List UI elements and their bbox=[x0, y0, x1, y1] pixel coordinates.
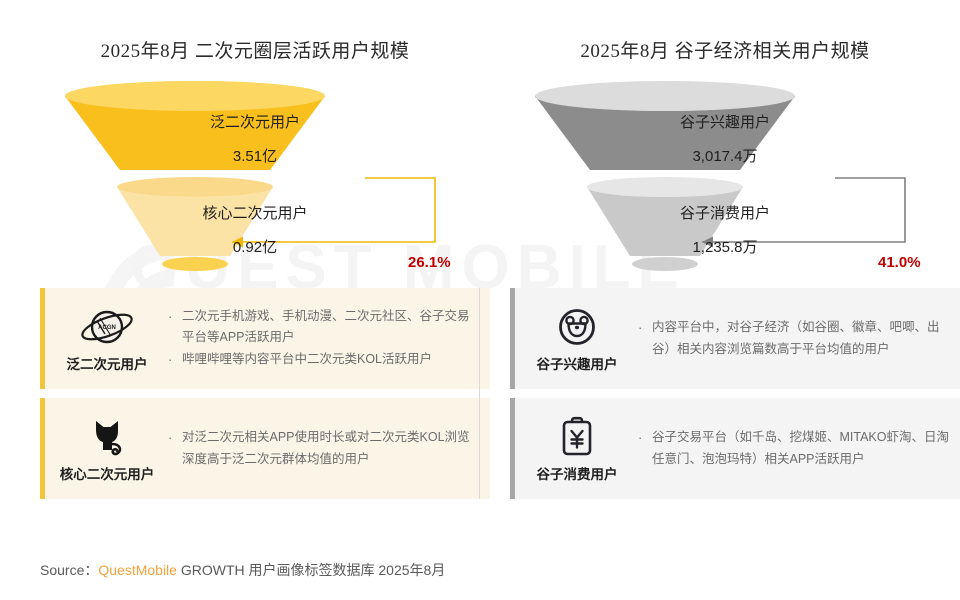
card-pan-acgn-user: ACGN 泛二次元用户 · 二次元手机游戏、手机动漫、二次元社区、谷子交易平台等… bbox=[40, 288, 490, 389]
left-funnel-level1-label: 泛二次元用户 bbox=[20, 111, 490, 132]
bullet-dot-icon: · bbox=[168, 427, 182, 449]
bullet-item: · 对泛二次元相关APP使用时长或对二次元类KOL浏览深度高于泛二次元群体均值的… bbox=[168, 427, 480, 470]
card-label: 谷子兴趣用户 bbox=[537, 353, 618, 373]
left-chart-title: 2025年8月 二次元圈层活跃用户规模 bbox=[20, 36, 490, 63]
planet-acgn-icon: ACGN bbox=[78, 304, 136, 350]
card-label: 泛二次元用户 bbox=[67, 353, 148, 373]
card-icon-column: ACGN 泛二次元用户 bbox=[46, 304, 168, 373]
right-chart-title: 2025年8月 谷子经济相关用户规模 bbox=[490, 36, 960, 63]
right-funnel-level2-label: 谷子消费用户 bbox=[490, 202, 960, 223]
left-funnel-level2-label: 核心二次元用户 bbox=[20, 202, 490, 223]
bullet-text: 二次元手机游戏、手机动漫、二次元社区、谷子交易平台等APP活跃用户 bbox=[182, 306, 480, 349]
card-bullet-list: · 内容平台中，对谷子经济（如谷圈、徽章、吧唧、出谷）相关内容浏览篇数高于平台均… bbox=[638, 317, 960, 360]
card-core-acgn-user: 核心二次元用户 · 对泛二次元相关APP使用时长或对二次元类KOL浏览深度高于泛… bbox=[40, 398, 490, 499]
card-bullet-list: · 二次元手机游戏、手机动漫、二次元社区、谷子交易平台等APP活跃用户 · 哔哩… bbox=[168, 306, 490, 371]
left-funnel-chart: 泛二次元用户 3.51亿 核心二次元用户 0.92亿 26.1% bbox=[20, 80, 490, 275]
bullet-dot-icon: · bbox=[638, 427, 652, 449]
column-divider bbox=[479, 288, 480, 499]
bullet-text: 内容平台中，对谷子经济（如谷圈、徽章、吧唧、出谷）相关内容浏览篇数高于平台均值的… bbox=[652, 317, 950, 360]
right-column: 2025年8月 谷子经济相关用户规模 谷子兴趣用户 3,017.4万 谷子消费用… bbox=[490, 0, 960, 600]
right-funnel-chart: 谷子兴趣用户 3,017.4万 谷子消费用户 1,235.8万 41.0% bbox=[490, 80, 960, 275]
card-icon-column: 谷子兴趣用户 bbox=[516, 304, 638, 373]
source-footer: Source：QuestMobile GROWTH 用户画像标签数据库 2025… bbox=[40, 560, 445, 580]
bullet-item: · 二次元手机游戏、手机动漫、二次元社区、谷子交易平台等APP活跃用户 bbox=[168, 306, 480, 349]
card-label: 谷子消费用户 bbox=[537, 463, 618, 483]
bear-face-icon bbox=[555, 304, 599, 350]
slide-root: QUEST MOBILE 2025年8月 二次元圈层活跃用户规模 bbox=[0, 0, 960, 600]
source-prefix: Source： bbox=[40, 562, 98, 578]
bullet-item: · 谷子交易平台（如千岛、挖煤姬、MITAKO虾淘、日淘任意门、泡泡玛特）相关A… bbox=[638, 427, 950, 470]
left-conversion-rate: 26.1% bbox=[408, 254, 451, 271]
card-icon-column: 核心二次元用户 bbox=[46, 414, 168, 483]
card-bullet-list: · 谷子交易平台（如千岛、挖煤姬、MITAKO虾淘、日淘任意门、泡泡玛特）相关A… bbox=[638, 427, 960, 470]
source-brand: QuestMobile bbox=[98, 562, 177, 578]
left-column: 2025年8月 二次元圈层活跃用户规模 泛二次元用户 3.51亿 核心二 bbox=[20, 0, 490, 600]
bullet-dot-icon: · bbox=[638, 317, 652, 339]
bullet-dot-icon: · bbox=[168, 349, 182, 371]
card-label: 核心二次元用户 bbox=[60, 463, 155, 483]
card-guzi-consumer-user: 谷子消费用户 · 谷子交易平台（如千岛、挖煤姬、MITAKO虾淘、日淘任意门、泡… bbox=[510, 398, 960, 499]
black-cat-icon bbox=[84, 414, 130, 460]
right-funnel-level1-label: 谷子兴趣用户 bbox=[490, 111, 960, 132]
left-cards: ACGN 泛二次元用户 · 二次元手机游戏、手机动漫、二次元社区、谷子交易平台等… bbox=[40, 288, 490, 508]
card-bullet-list: · 对泛二次元相关APP使用时长或对二次元类KOL浏览深度高于泛二次元群体均值的… bbox=[168, 427, 490, 470]
card-icon-column: 谷子消费用户 bbox=[516, 414, 638, 483]
bullet-text: 对泛二次元相关APP使用时长或对二次元类KOL浏览深度高于泛二次元群体均值的用户 bbox=[182, 427, 480, 470]
right-cards: 谷子兴趣用户 · 内容平台中，对谷子经济（如谷圈、徽章、吧唧、出谷）相关内容浏览… bbox=[510, 288, 960, 508]
card-guzi-interest-user: 谷子兴趣用户 · 内容平台中，对谷子经济（如谷圈、徽章、吧唧、出谷）相关内容浏览… bbox=[510, 288, 960, 389]
bullet-item: · 哔哩哔哩等内容平台中二次元类KOL活跃用户 bbox=[168, 349, 480, 371]
bullet-text: 谷子交易平台（如千岛、挖煤姬、MITAKO虾淘、日淘任意门、泡泡玛特）相关APP… bbox=[652, 427, 950, 470]
svg-text:ACGN: ACGN bbox=[98, 325, 116, 331]
bullet-dot-icon: · bbox=[168, 306, 182, 328]
right-conversion-rate: 41.0% bbox=[878, 254, 921, 271]
right-funnel-level1-value: 3,017.4万 bbox=[490, 145, 960, 166]
left-funnel-level1-value: 3.51亿 bbox=[20, 145, 490, 166]
clipboard-yuan-icon bbox=[557, 414, 597, 460]
source-suffix: GROWTH 用户画像标签数据库 2025年8月 bbox=[177, 562, 445, 578]
bullet-item: · 内容平台中，对谷子经济（如谷圈、徽章、吧唧、出谷）相关内容浏览篇数高于平台均… bbox=[638, 317, 950, 360]
bullet-text: 哔哩哔哩等内容平台中二次元类KOL活跃用户 bbox=[182, 349, 480, 371]
